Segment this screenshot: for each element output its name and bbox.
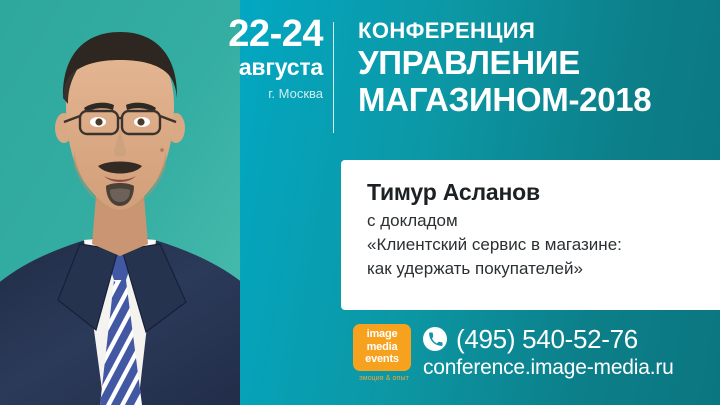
date-block: 22-24 августа г. Москва [150,14,323,101]
logo-line-2: media [353,341,411,354]
date-month: августа [150,54,323,80]
phone-row[interactable]: (495) 540-52-76 [423,324,713,354]
website-url[interactable]: conference.image-media.ru [423,355,713,381]
logo-line-1: image [353,328,411,341]
logo-line-3: events [353,353,411,366]
contact-block: (495) 540-52-76 conference.image-media.r… [423,324,713,381]
speaker-topic-line-1: «Клиентский сервис в магазине: [367,233,700,257]
footer: image media events эмоция & опыт (495) 5… [341,310,720,405]
date-range: 22-24 [150,14,323,54]
speaker-name: Тимур Асланов [367,178,700,207]
speaker-topic-line-2: как удержать покупателей» [367,257,700,281]
headline-line-1: УПРАВЛЕНИЕ [358,44,651,81]
headline-line-2: МАГАЗИНОМ-2018 [358,81,651,118]
organizer-logo[interactable]: image media events эмоция & опыт [353,324,415,383]
phone-icon [423,327,447,351]
phone-number[interactable]: (495) 540-52-76 [456,324,638,354]
speaker-card: Тимур Асланов с докладом «Клиентский сер… [341,160,720,310]
vertical-divider [333,22,334,133]
date-city: г. Москва [150,86,323,101]
logo-box: image media events [353,324,411,371]
logo-tagline: эмоция & опыт [353,374,415,383]
headline: КОНФЕРЕНЦИЯ УПРАВЛЕНИЕ МАГАЗИНОМ-2018 [358,18,651,118]
headline-kicker: КОНФЕРЕНЦИЯ [358,18,651,44]
speaker-subtitle: с докладом [367,209,700,233]
conference-banner: 22-24 августа г. Москва КОНФЕРЕНЦИЯ УПРА… [0,0,720,405]
